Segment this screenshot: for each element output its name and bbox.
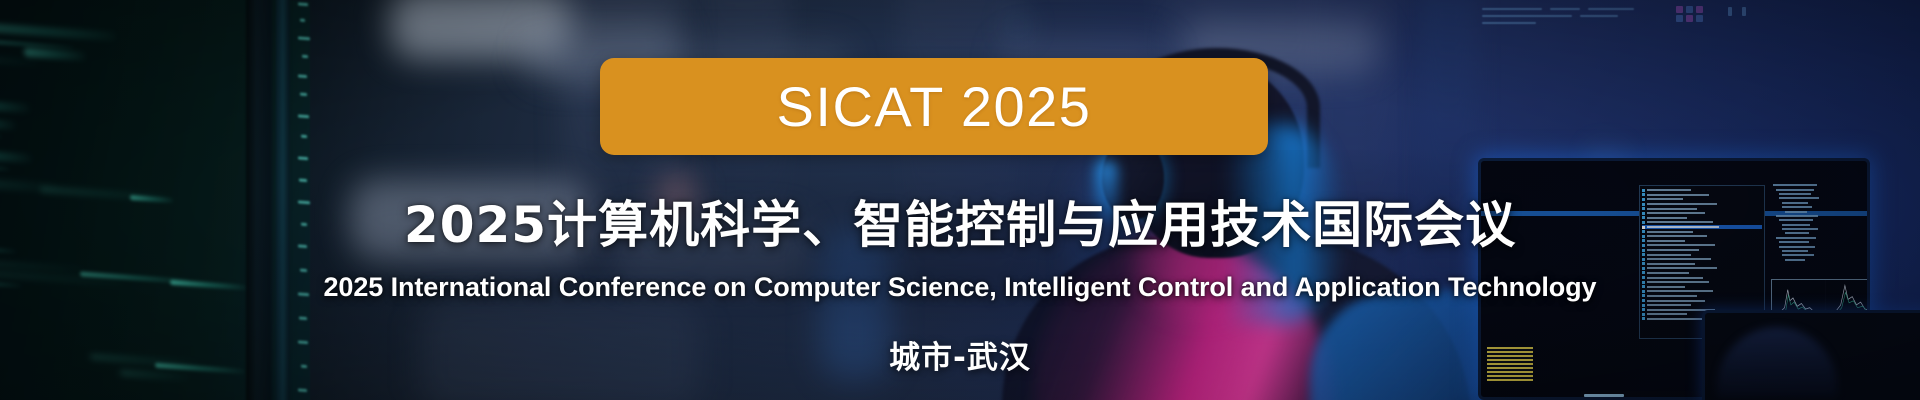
conference-title-english: 2025 International Conference on Compute… xyxy=(0,272,1920,303)
conference-acronym-badge: SICAT 2025 xyxy=(600,58,1268,155)
conference-city-label: 城市-武汉 xyxy=(0,332,1920,377)
banner-content: SICAT 2025 2025计算机科学、智能控制与应用技术国际会议 2025 … xyxy=(0,0,1920,400)
conference-banner: SICAT 2025 2025计算机科学、智能控制与应用技术国际会议 2025 … xyxy=(0,0,1920,400)
conference-acronym-label: SICAT 2025 xyxy=(777,79,1092,135)
conference-title-chinese: 2025计算机科学、智能控制与应用技术国际会议 xyxy=(0,198,1920,252)
